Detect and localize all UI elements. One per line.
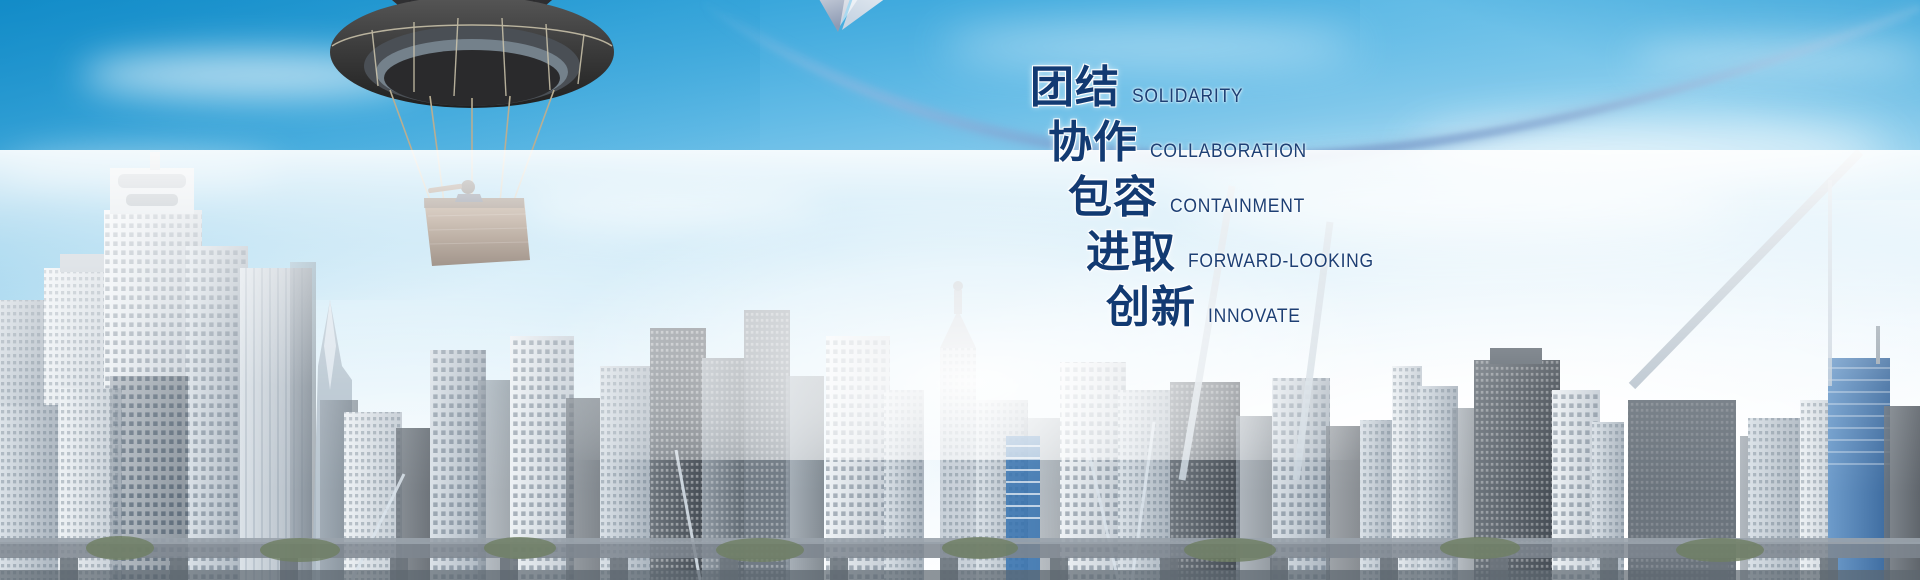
corporate-culture-banner: 团结 SOLIDARITY 协作 COLLABORATION 包容 CONTAI… [0,0,1920,580]
slogan-cn-containment: 包容 [1068,176,1158,220]
cloud-wisp [1630,40,1920,76]
slogan-en-innovate: INNOVATE [1208,306,1301,328]
slogan-line-collaboration: 协作 COLLABORATION [1048,121,1550,165]
slogan-line-forward-looking: 进取 FORWARD-LOOKING [1086,231,1550,275]
paper-airplane-icon [790,0,940,36]
slogan-line-containment: 包容 CONTAINMENT [1068,176,1550,220]
slogan-en-containment: CONTAINMENT [1170,196,1305,218]
skyline-left [0,152,438,580]
cloud-wisp [940,26,1360,66]
slogan-cn-forward-looking: 进取 [1086,231,1176,275]
slogan-line-innovate: 创新 INNOVATE [1106,286,1550,330]
slogan-cn-innovate: 创新 [1106,286,1196,330]
city-skyline [0,150,1920,580]
slogan-cn-collaboration: 协作 [1048,121,1138,165]
slogan-en-forward-looking: FORWARD-LOOKING [1188,251,1374,273]
construction-crane [1632,152,1860,386]
slogan-line-solidarity: 团结 SOLIDARITY [1030,66,1550,110]
slogan-block: 团结 SOLIDARITY 协作 COLLABORATION 包容 CONTAI… [1030,66,1550,341]
bridge [0,536,1920,580]
slogan-cn-solidarity: 团结 [1030,66,1120,110]
slogan-en-solidarity: SOLIDARITY [1132,86,1243,108]
slogan-en-collaboration: COLLABORATION [1150,141,1307,163]
